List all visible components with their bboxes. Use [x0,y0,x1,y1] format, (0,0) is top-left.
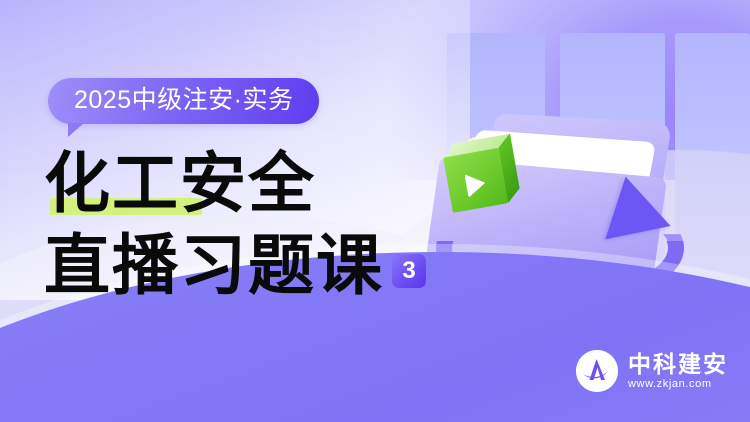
title-line-1-text: 化工安全 [44,148,316,221]
course-promo-banner: 2025中级注安·实务 化工安全 直播习题课3 中科建安 www.zkjan.c… [0,0,750,422]
brand-logo-text: 中科建安 www.zkjan.com [628,353,728,390]
course-kicker-label: 2025中级注安·实务 [74,86,293,114]
zkjan-logo-mark [576,350,618,392]
brand-logo: 中科建安 www.zkjan.com [576,350,728,392]
brand-url: www.zkjan.com [628,379,728,390]
page-title: 化工安全 直播习题课3 [44,152,426,300]
title-line-1: 化工安全 [44,152,426,218]
play-cube-icon [441,135,513,207]
title-line-2-text: 直播习题课 [44,230,384,303]
title-line-2: 直播习题课3 [44,234,426,300]
kicker-tail [68,123,84,137]
brand-name: 中科建安 [628,353,728,376]
play-triangle-icon [464,171,487,198]
course-kicker-badge: 2025中级注安·实务 [48,78,319,124]
episode-badge: 3 [392,254,426,288]
